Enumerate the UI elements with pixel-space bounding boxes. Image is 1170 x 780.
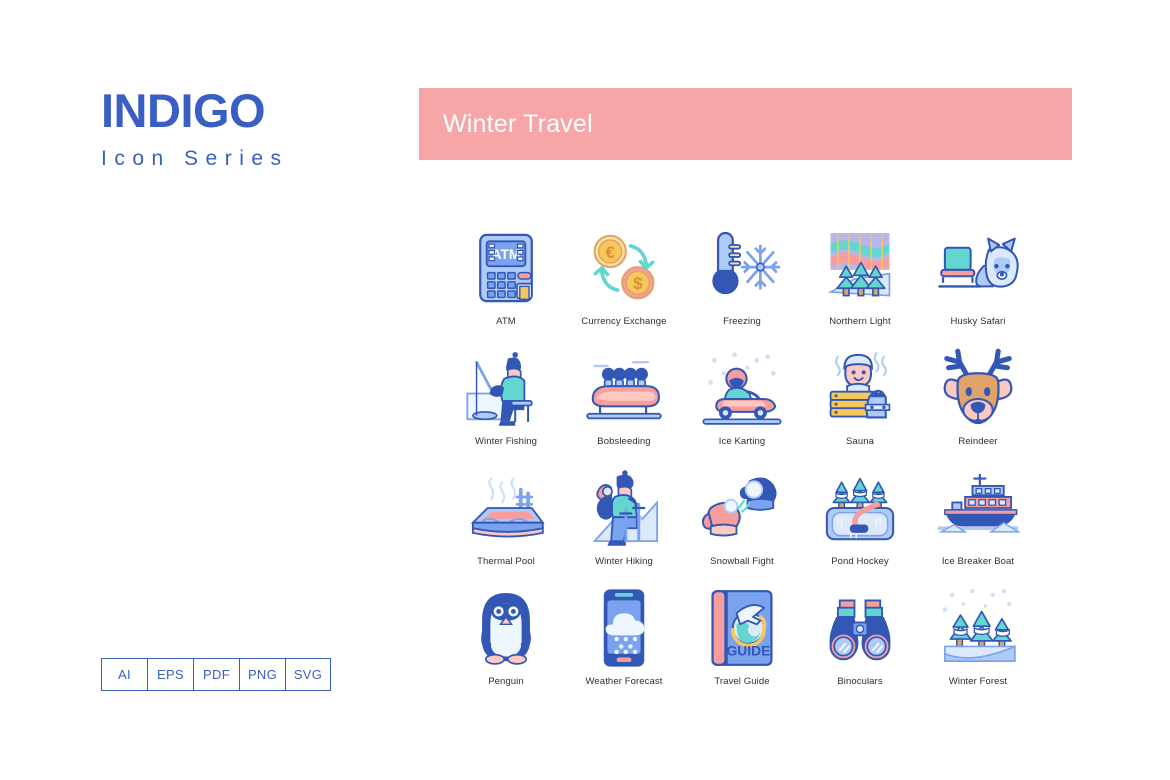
icon-label: Bobsleeding xyxy=(597,436,650,447)
svg-text:GUIDE: GUIDE xyxy=(727,644,771,659)
icon-cell-reindeer[interactable]: Reindeer xyxy=(919,342,1037,462)
currency-exchange-icon: € $ xyxy=(578,222,670,314)
icon-label: Snowball Fight xyxy=(710,556,774,567)
icon-cell-northern-light[interactable]: Northern Light xyxy=(801,222,919,342)
icon-label: Ice Karting xyxy=(719,436,766,447)
icon-label: Weather Forecast xyxy=(586,676,663,687)
atm-icon: ATM xyxy=(460,222,552,314)
icon-cell-winter-forest[interactable]: Winter Forest xyxy=(919,582,1037,702)
icon-label: Northern Light xyxy=(829,316,891,327)
icon-cell-binoculars[interactable]: Binoculars xyxy=(801,582,919,702)
icon-cell-ice-breaker-boat[interactable]: Ice Breaker Boat xyxy=(919,462,1037,582)
category-banner: Winter Travel xyxy=(419,88,1072,160)
penguin-icon xyxy=(460,582,552,674)
svg-text:€: € xyxy=(606,243,615,262)
icon-label: Penguin xyxy=(488,676,524,687)
icon-cell-winter-hiking[interactable]: Winter Hiking xyxy=(565,462,683,582)
bobsleeding-icon xyxy=(578,342,670,434)
icon-label: ATM xyxy=(496,316,516,327)
icon-label: Binoculars xyxy=(837,676,882,687)
icon-label: Winter Hiking xyxy=(595,556,653,567)
sauna-icon xyxy=(814,342,906,434)
page-title: INDIGO xyxy=(101,86,401,135)
svg-text:$: $ xyxy=(633,274,642,293)
icon-cell-travel-guide[interactable]: GUIDE Travel Guide xyxy=(683,582,801,702)
format-chip-ai[interactable]: AI xyxy=(101,658,147,691)
icon-label: Sauna xyxy=(846,436,874,447)
icon-label: Thermal Pool xyxy=(477,556,535,567)
format-chip-pdf[interactable]: PDF xyxy=(193,658,239,691)
icon-cell-thermal-pool[interactable]: Thermal Pool xyxy=(447,462,565,582)
icon-label: Winter Fishing xyxy=(475,436,537,447)
icon-cell-atm[interactable]: ATM ATM xyxy=(447,222,565,342)
icon-cell-ice-karting[interactable]: Ice Karting xyxy=(683,342,801,462)
format-chip-eps[interactable]: EPS xyxy=(147,658,193,691)
pond-hockey-icon xyxy=(814,462,906,554)
icon-cell-snowball-fight[interactable]: Snowball Fight xyxy=(683,462,801,582)
winter-forest-icon xyxy=(932,582,1024,674)
brand-subtitle: Icon Series xyxy=(101,147,401,171)
icon-label: Ice Breaker Boat xyxy=(942,556,1014,567)
winter-hiking-icon xyxy=(578,462,670,554)
binoculars-icon xyxy=(814,582,906,674)
icon-set-preview-page: INDIGO Icon Series AI EPS PDF PNG SVG Wi… xyxy=(0,0,1170,780)
freezing-icon xyxy=(696,222,788,314)
icon-label: Travel Guide xyxy=(714,676,769,687)
snowball-fight-icon xyxy=(696,462,788,554)
icon-label: Husky Safari xyxy=(950,316,1005,327)
northern-light-icon xyxy=(814,222,906,314)
icon-cell-freezing[interactable]: Freezing xyxy=(683,222,801,342)
icon-cell-currency-exchange[interactable]: € $ Currency Exchange xyxy=(565,222,683,342)
ice-karting-icon xyxy=(696,342,788,434)
icon-cell-sauna[interactable]: Sauna xyxy=(801,342,919,462)
svg-text:ATM: ATM xyxy=(492,247,521,262)
icon-cell-weather-forecast[interactable]: Weather Forecast xyxy=(565,582,683,702)
category-title: Winter Travel xyxy=(443,110,593,139)
ice-breaker-boat-icon xyxy=(932,462,1024,554)
icon-cell-pond-hockey[interactable]: Pond Hockey xyxy=(801,462,919,582)
icon-label: Currency Exchange xyxy=(581,316,666,327)
icon-cell-husky-safari[interactable]: Husky Safari xyxy=(919,222,1037,342)
husky-safari-icon xyxy=(932,222,1024,314)
icon-cell-winter-fishing[interactable]: Winter Fishing xyxy=(447,342,565,462)
icon-grid: ATM ATM € xyxy=(447,222,1047,702)
icon-label: Reindeer xyxy=(958,436,997,447)
icon-label: Freezing xyxy=(723,316,761,327)
format-chip-svg[interactable]: SVG xyxy=(285,658,331,691)
brand-block: INDIGO Icon Series xyxy=(101,86,401,171)
winter-fishing-icon xyxy=(460,342,552,434)
travel-guide-icon: GUIDE xyxy=(696,582,788,674)
icon-label: Winter Forest xyxy=(949,676,1007,687)
reindeer-icon xyxy=(932,342,1024,434)
thermal-pool-icon xyxy=(460,462,552,554)
format-chip-png[interactable]: PNG xyxy=(239,658,285,691)
icon-label: Pond Hockey xyxy=(831,556,889,567)
icon-cell-bobsleeding[interactable]: Bobsleeding xyxy=(565,342,683,462)
format-chip-group: AI EPS PDF PNG SVG xyxy=(101,658,331,691)
icon-cell-penguin[interactable]: Penguin xyxy=(447,582,565,702)
weather-forecast-icon xyxy=(578,582,670,674)
